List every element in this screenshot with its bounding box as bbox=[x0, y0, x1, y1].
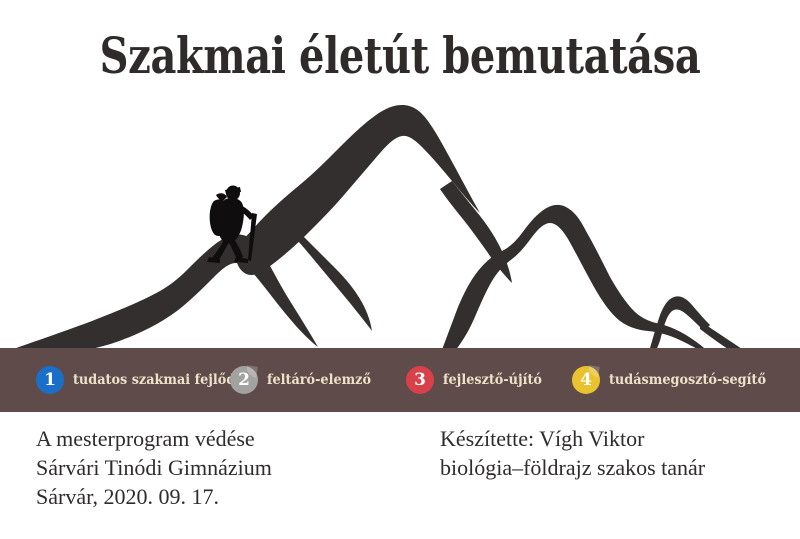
mountain-range-illustration bbox=[0, 95, 800, 360]
badge-item-1[interactable]: 1 tudatos szakmai fejlődés bbox=[36, 366, 260, 394]
badge-label-2: feltáró-elemző bbox=[267, 372, 371, 388]
badge-label-3: fejlesztő-újító bbox=[443, 372, 542, 388]
mid-branch-stroke bbox=[296, 233, 372, 331]
author-line-2: biológia–földrajz szakos tanár bbox=[440, 453, 705, 482]
event-line-2: Sárvári Tinódi Gimnázium bbox=[36, 453, 272, 482]
presentation-title-slide: Szakmai életút bemutatása bbox=[0, 0, 800, 539]
page-title: Szakmai életút bemutatása bbox=[80, 26, 720, 86]
badge-row: 1 tudatos szakmai fejlődés 2 feltáró-ele… bbox=[0, 348, 800, 412]
competency-band: 1 tudatos szakmai fejlődés 2 feltáró-ele… bbox=[0, 348, 800, 412]
badge-number-3: 3 bbox=[406, 366, 434, 394]
badge-item-4[interactable]: 4 tudásmegosztó-segítő bbox=[572, 366, 774, 394]
badge-label-4: tudásmegosztó-segítő bbox=[609, 372, 766, 388]
author-line-1: Készítette: Vígh Viktor bbox=[440, 424, 705, 453]
event-details: A mesterprogram védése Sárvári Tinódi Gi… bbox=[36, 424, 272, 511]
badge-item-2[interactable]: 2 feltáró-elemző bbox=[230, 366, 377, 394]
badge-number-4: 4 bbox=[572, 366, 600, 394]
badge-item-3[interactable]: 3 fejlesztő-újító bbox=[406, 366, 547, 394]
badge-label-1: tudatos szakmai fejlődés bbox=[73, 372, 251, 388]
footer: A mesterprogram védése Sárvári Tinódi Gi… bbox=[0, 424, 800, 539]
event-line-1: A mesterprogram védése bbox=[36, 424, 272, 453]
badge-number-2: 2 bbox=[230, 366, 258, 394]
badge-number-1: 1 bbox=[36, 366, 64, 394]
author-details: Készítette: Vígh Viktor biológia–földraj… bbox=[440, 424, 705, 482]
event-line-3: Sárvár, 2020. 09. 17. bbox=[36, 482, 272, 511]
